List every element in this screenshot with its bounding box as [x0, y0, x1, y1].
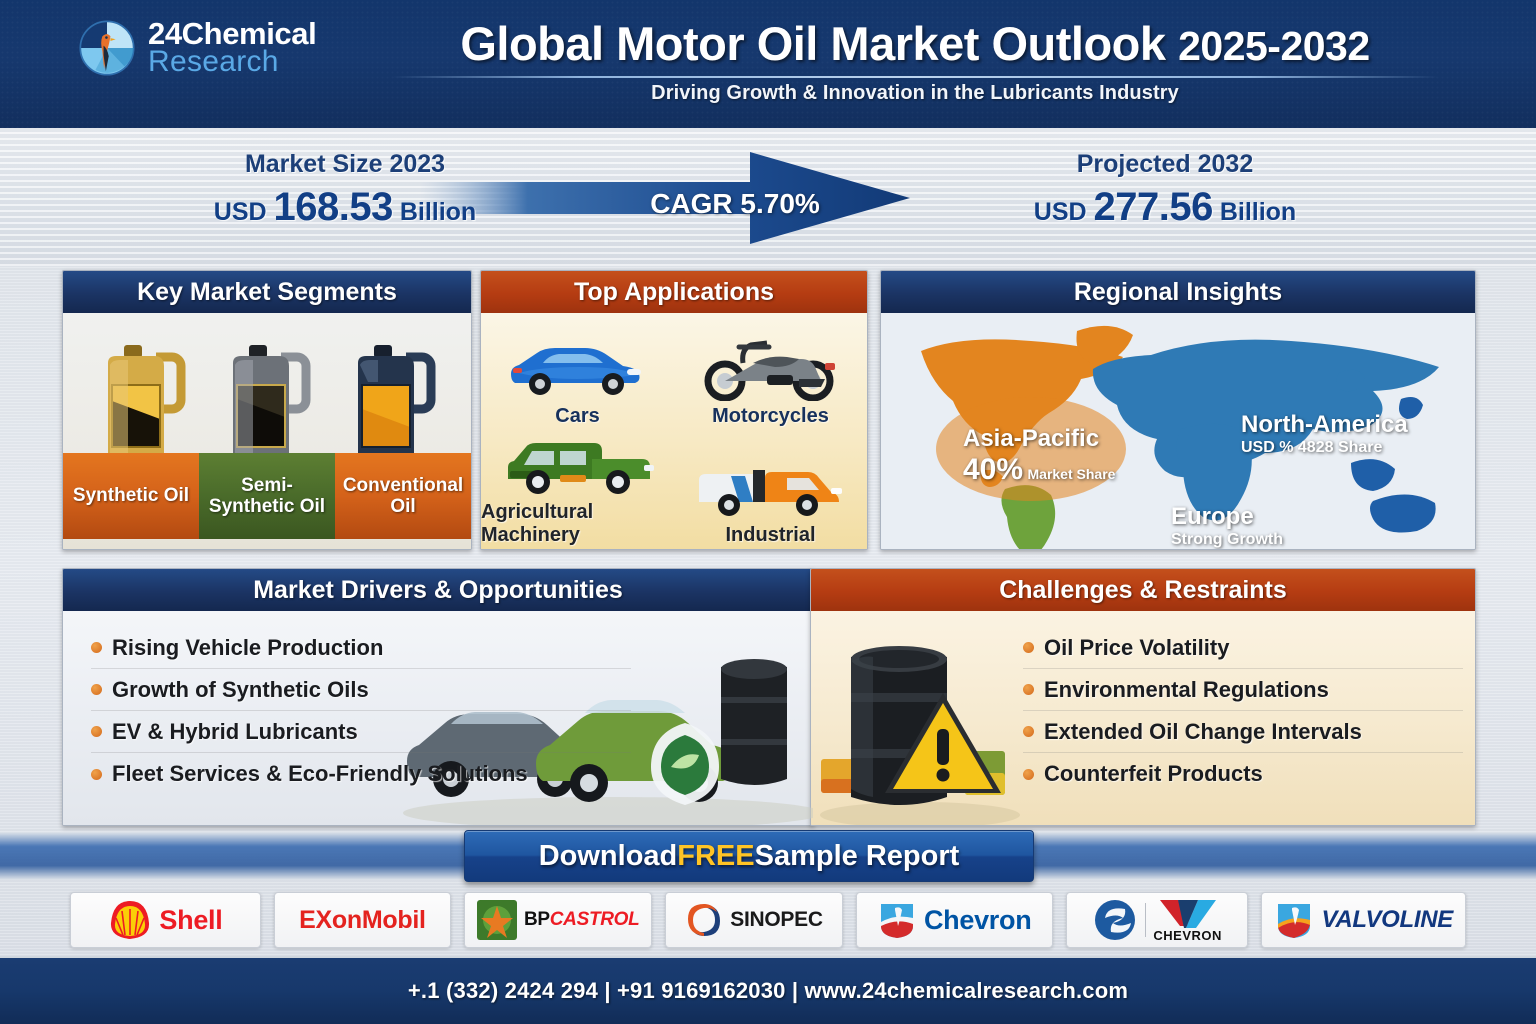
logo-card-sinopec[interactable]: SINOPEC — [665, 892, 842, 948]
key-market-segments-panel: Key Market Segments — [62, 270, 472, 550]
title-divider — [392, 76, 1438, 78]
market-size-number: 168.53 — [274, 185, 393, 229]
cta-text-before: Download — [539, 840, 678, 873]
region-tag-asia-pacific[interactable]: Asia-Pacific 40% Market Share — [963, 425, 1115, 487]
projected-currency: USD — [1034, 198, 1087, 226]
application-label-agricultural: Agricultural Machinery — [481, 501, 674, 547]
bullet-dot-icon — [91, 769, 102, 780]
projected-2032: Projected 2032 USD 277.56 Billion — [930, 150, 1400, 230]
list-item[interactable]: Fleet Services & Eco-Friendly Solutions — [91, 753, 631, 795]
list-item[interactable]: Counterfeit Products — [1023, 753, 1463, 795]
market-size-2023: Market Size 2023 USD 168.53 Billion — [130, 150, 560, 230]
driver-label-2: Growth of Synthetic Oils — [112, 677, 369, 703]
logo-line-two: Research — [148, 47, 316, 77]
oil-jug-group — [63, 323, 471, 473]
applications-grid: Cars — [481, 313, 867, 550]
projected-value: USD 277.56 Billion — [930, 185, 1400, 230]
segment-bar-semi-synthetic[interactable]: Semi-Synthetic Oil — [199, 453, 335, 539]
logo-card-chevron[interactable]: Chevron — [856, 892, 1053, 948]
driver-label-4: Fleet Services & Eco-Friendly Solutions — [112, 761, 528, 787]
top-applications-panel: Top Applications — [480, 270, 868, 550]
market-size-unit: Billion — [400, 198, 476, 226]
infographic-page: 24Chemical Research Global Motor Oil Mar… — [0, 0, 1536, 1024]
logo-label-chevron-v: CHEVRON — [1153, 929, 1222, 942]
region-sub-europe: Strong Growth — [1171, 531, 1283, 549]
region-tag-europe[interactable]: Europe Strong Growth — [1171, 503, 1283, 549]
footer-contact-text[interactable]: +.1 (332) 2424 294 | +91 9169162030 | ww… — [408, 978, 1128, 1004]
bullet-dot-icon — [1023, 769, 1034, 780]
logo-label-exxonmobil: EXonMobil — [299, 906, 425, 935]
challenge-label-3: Extended Oil Change Intervals — [1044, 719, 1362, 745]
region-detail-asia-pacific: 40% Market Share — [963, 453, 1115, 487]
application-item-cars[interactable]: Cars — [481, 313, 674, 432]
projected-number: 277.56 — [1094, 185, 1213, 229]
orange-utility-truck-icon — [691, 456, 851, 520]
bp-castrol-icon — [477, 900, 517, 940]
logo-card-exxonmobil[interactable]: EXonMobil — [274, 892, 451, 948]
green-tractor-truck-icon — [498, 433, 658, 497]
sinopec-secondary-icon — [1092, 898, 1138, 942]
drivers-panel-body: Rising Vehicle Production Growth of Synt… — [63, 611, 813, 826]
challenges-panel: Challenges & Restraints — [810, 568, 1476, 826]
brand-logo[interactable]: 24Chemical Research — [78, 18, 316, 77]
page-subtitle: Driving Growth & Innovation in the Lubri… — [370, 82, 1460, 105]
partner-logo-strip: Shell EXonMobil BPCASTROL SINOPEC — [0, 884, 1536, 956]
region-sub-north-america: USD % 4828 Share — [1241, 439, 1408, 457]
application-item-motorcycles[interactable]: Motorcycles — [674, 313, 867, 432]
logo-label-shell: Shell — [159, 905, 222, 936]
oil-barrel-warning-art — [815, 627, 1025, 826]
download-sample-report-button[interactable]: Download FREE Sample Report — [464, 830, 1034, 882]
logo-card-shell[interactable]: Shell — [70, 892, 261, 948]
bullet-dot-icon — [1023, 642, 1034, 653]
list-item[interactable]: Oil Price Volatility — [1023, 627, 1463, 669]
logo-card-valvoline[interactable]: VALVOLINE — [1261, 892, 1466, 948]
region-name-north-america: North-America — [1241, 411, 1408, 439]
region-name-europe: Europe — [1171, 503, 1283, 531]
drivers-panel-title: Market Drivers & Opportunities — [63, 569, 813, 611]
motorcycle-icon — [695, 337, 847, 401]
challenges-panel-title: Challenges & Restraints — [811, 569, 1475, 611]
logo-card-chevron-v[interactable]: CHEVRON — [1066, 892, 1249, 948]
market-size-currency: USD — [214, 198, 267, 226]
segments-panel-body: Synthetic Oil Semi-Synthetic Oil Convent… — [63, 313, 471, 550]
chevron-shield-icon — [877, 900, 917, 940]
application-label-industrial: Industrial — [725, 524, 815, 547]
valvoline-shield-icon — [1274, 900, 1314, 940]
cagr-value: CAGR 5.70% — [610, 188, 860, 220]
logo-label-valvoline: VALVOLINE — [1321, 906, 1453, 934]
circular-globe-bird-logo-icon — [78, 19, 136, 77]
blue-sedan-icon — [503, 337, 653, 401]
logo-card-bpcastrol[interactable]: BPCASTROL — [464, 892, 653, 948]
bullet-dot-icon — [91, 642, 102, 653]
cta-text-highlight: FREE — [677, 840, 754, 873]
segment-bar-conventional[interactable]: Conventional Oil — [335, 453, 471, 539]
bullet-dot-icon — [1023, 684, 1034, 695]
challenges-bullet-list: Oil Price Volatility Environmental Regul… — [1023, 627, 1463, 795]
page-header: 24Chemical Research Global Motor Oil Mar… — [0, 0, 1536, 128]
region-name-asia-pacific: Asia-Pacific — [963, 425, 1115, 453]
logo-label-chevron: Chevron — [924, 905, 1031, 936]
applications-panel-body: Cars — [481, 313, 867, 550]
segment-bar-synthetic[interactable]: Synthetic Oil — [63, 453, 199, 539]
page-title-main: Global Motor Oil Market Outlook — [460, 17, 1165, 70]
bullet-dot-icon — [1023, 726, 1034, 737]
challenge-label-4: Counterfeit Products — [1044, 761, 1263, 787]
driver-label-1: Rising Vehicle Production — [112, 635, 383, 661]
region-sub-asia-pacific: Market Share — [1028, 466, 1116, 482]
challenge-label-2: Environmental Regulations — [1044, 677, 1329, 703]
challenge-label-1: Oil Price Volatility — [1044, 635, 1229, 661]
drivers-bullet-list: Rising Vehicle Production Growth of Synt… — [91, 627, 631, 795]
driver-label-3: EV & Hybrid Lubricants — [112, 719, 358, 745]
list-item[interactable]: Extended Oil Change Intervals — [1023, 711, 1463, 753]
logo-label-sinopec: SINOPEC — [730, 908, 822, 932]
regional-panel-title: Regional Insights — [881, 271, 1475, 313]
market-size-value: USD 168.53 Billion — [130, 185, 560, 230]
projected-unit: Billion — [1220, 198, 1296, 226]
challenges-panel-body: Oil Price Volatility Environmental Regul… — [811, 611, 1475, 826]
list-item[interactable]: EV & Hybrid Lubricants — [91, 711, 631, 753]
list-item[interactable]: Environmental Regulations — [1023, 669, 1463, 711]
sinopec-icon — [685, 901, 723, 939]
market-stats-band: Market Size 2023 USD 168.53 Billion CAGR… — [0, 128, 1536, 266]
application-item-industrial[interactable]: Industrial — [674, 432, 867, 550]
regional-insights-panel: Regional Insights — [880, 270, 1476, 550]
segment-bars: Synthetic Oil Semi-Synthetic Oil Convent… — [63, 453, 471, 539]
application-label-motorcycles: Motorcycles — [712, 405, 829, 428]
bullet-dot-icon — [91, 726, 102, 737]
list-item[interactable]: Growth of Synthetic Oils — [91, 669, 631, 711]
market-size-label: Market Size 2023 — [130, 150, 560, 179]
title-block: Global Motor Oil Market Outlook 2025-203… — [370, 16, 1460, 105]
regional-panel-body: Asia-Pacific 40% Market Share North-Amer… — [881, 313, 1475, 550]
bullet-dot-icon — [91, 684, 102, 695]
page-title-years: 2025-2032 — [1178, 23, 1370, 69]
shell-pecten-icon — [108, 899, 152, 941]
page-footer: +.1 (332) 2424 294 | +91 9169162030 | ww… — [0, 956, 1536, 1024]
application-item-agricultural[interactable]: Agricultural Machinery — [481, 432, 674, 550]
page-title: Global Motor Oil Market Outlook 2025-203… — [370, 16, 1460, 71]
cta-text-after: Sample Report — [755, 840, 960, 873]
chevron-v-icon — [1158, 899, 1218, 929]
segments-panel-title: Key Market Segments — [63, 271, 471, 313]
logo-label-bpcastrol: BPCASTROL — [524, 909, 640, 931]
projected-label: Projected 2032 — [930, 150, 1400, 179]
region-tag-north-america[interactable]: North-America USD % 4828 Share — [1241, 411, 1408, 457]
application-label-cars: Cars — [555, 405, 599, 428]
region-value-asia-pacific: 40% — [963, 453, 1023, 486]
list-item[interactable]: Rising Vehicle Production — [91, 627, 631, 669]
market-drivers-panel: Market Drivers & Opportunities — [62, 568, 814, 826]
applications-panel-title: Top Applications — [481, 271, 867, 313]
